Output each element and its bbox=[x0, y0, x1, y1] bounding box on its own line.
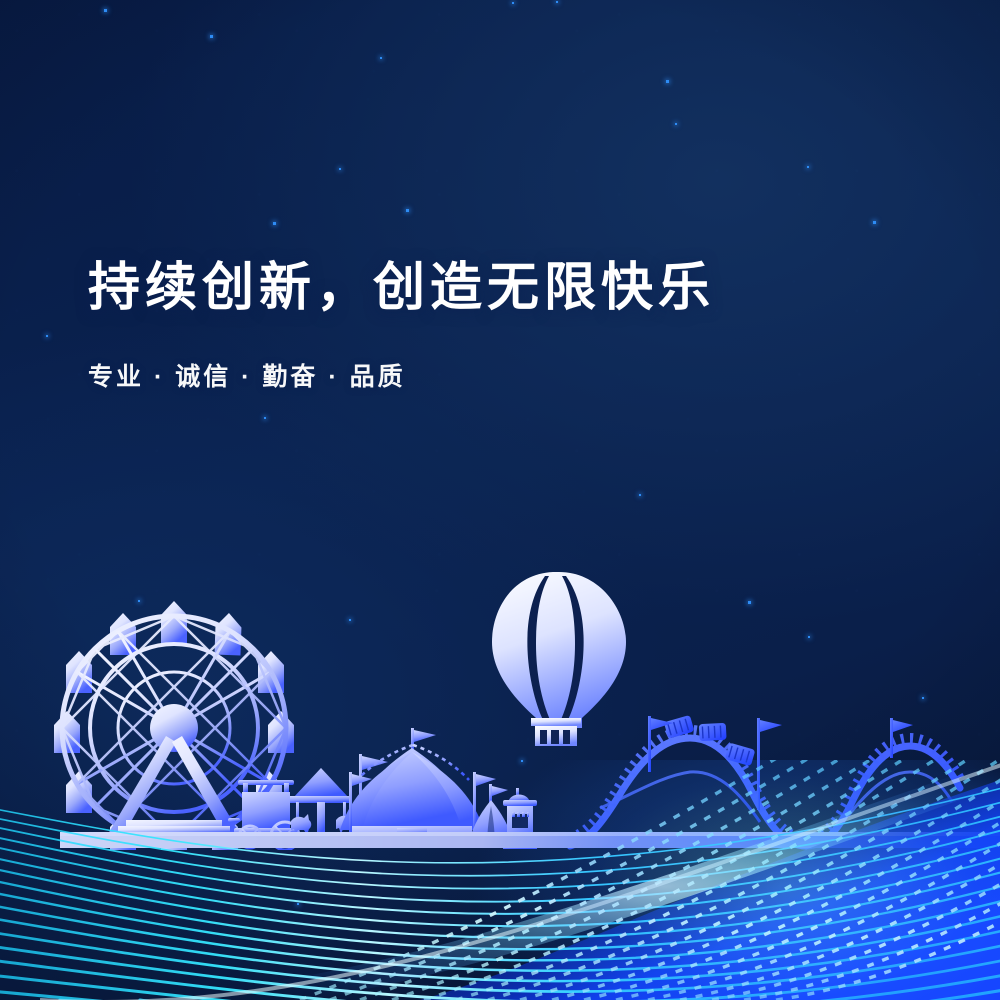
star-particle bbox=[104, 9, 107, 12]
glow-wave-lines bbox=[0, 760, 1000, 1000]
star-particle bbox=[675, 123, 677, 125]
star-particle bbox=[512, 2, 514, 4]
star-particle bbox=[46, 335, 48, 337]
star-particle bbox=[273, 222, 276, 225]
text-block: 持续创新，创造无限快乐 专业 · 诚信 · 勤奋 · 品质 bbox=[88, 258, 908, 393]
star-particle bbox=[406, 209, 409, 212]
star-particle bbox=[556, 1, 558, 3]
star-particle bbox=[666, 80, 669, 83]
banner-stage: 持续创新，创造无限快乐 专业 · 诚信 · 勤奋 · 品质 bbox=[0, 0, 1000, 1000]
star-particle bbox=[380, 57, 382, 59]
star-particle bbox=[339, 168, 341, 170]
star-particle bbox=[807, 166, 809, 168]
star-particle bbox=[873, 221, 876, 224]
star-particle bbox=[210, 35, 213, 38]
star-particle bbox=[264, 417, 266, 419]
star-particle bbox=[639, 494, 641, 496]
hot-air-balloon-icon bbox=[492, 572, 626, 746]
page-title: 持续创新，创造无限快乐 bbox=[88, 258, 908, 319]
page-subtitle: 专业 · 诚信 · 勤奋 · 品质 bbox=[88, 357, 908, 393]
